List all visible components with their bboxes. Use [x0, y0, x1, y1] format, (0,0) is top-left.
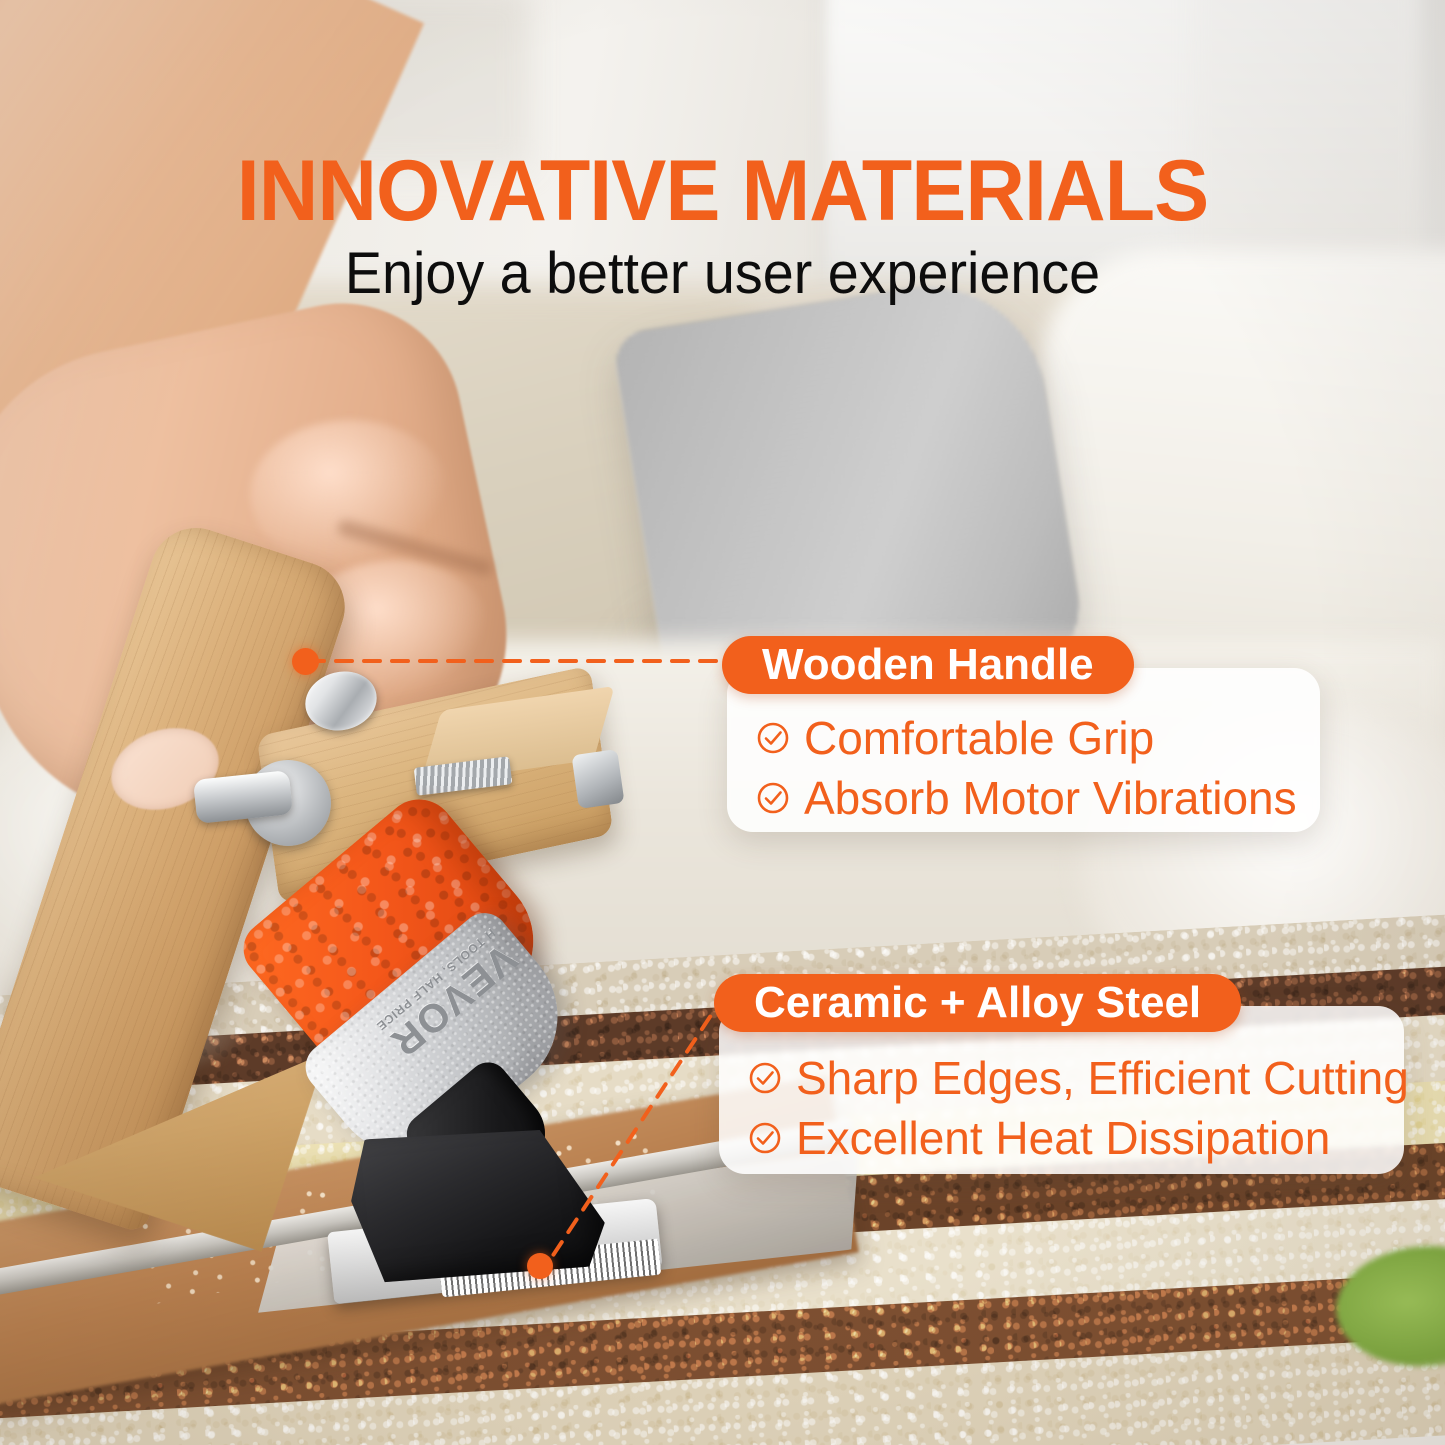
- feature-label: Comfortable Grip: [804, 708, 1154, 768]
- check-circle-icon: [756, 721, 790, 755]
- check-circle-icon: [756, 781, 790, 815]
- anchor-dot-ceramic-alloy-steel: [527, 1253, 553, 1279]
- list-item: Excellent Heat Dissipation: [748, 1108, 1409, 1168]
- list-item: Absorb Motor Vibrations: [756, 768, 1297, 828]
- feature-label: Excellent Heat Dissipation: [796, 1108, 1330, 1168]
- list-item: Comfortable Grip: [756, 708, 1297, 768]
- callout-feature-list: Sharp Edges, Efficient Cutting Excellent…: [748, 1048, 1409, 1168]
- check-circle-icon: [748, 1061, 782, 1095]
- anchor-dot-wooden-handle: [292, 648, 319, 675]
- list-item: Sharp Edges, Efficient Cutting: [748, 1048, 1409, 1108]
- callout-card-heading: Ceramic + Alloy Steel: [714, 974, 1241, 1032]
- page-title: INNOVATIVE MATERIALS: [29, 148, 1416, 234]
- page-subtitle: Enjoy a better user experience: [29, 242, 1416, 306]
- callout-card-wooden-handle[interactable]: Wooden Handle Comfortable Grip Absorb Mo…: [722, 636, 1320, 832]
- callout-card-heading: Wooden Handle: [722, 636, 1134, 694]
- connector-line-wooden-handle: [300, 640, 740, 682]
- feature-label: Sharp Edges, Efficient Cutting: [796, 1048, 1409, 1108]
- nut-right: [571, 749, 624, 809]
- callout-card-ceramic-alloy-steel[interactable]: Ceramic + Alloy Steel Sharp Edges, Effic…: [714, 974, 1404, 1174]
- check-circle-icon: [748, 1121, 782, 1155]
- callout-feature-list: Comfortable Grip Absorb Motor Vibrations: [756, 708, 1297, 828]
- product-feature-image: H TOOLS, HALF PRICE VEVOR INNOVATIVE MAT…: [0, 0, 1445, 1445]
- feature-label: Absorb Motor Vibrations: [804, 768, 1297, 828]
